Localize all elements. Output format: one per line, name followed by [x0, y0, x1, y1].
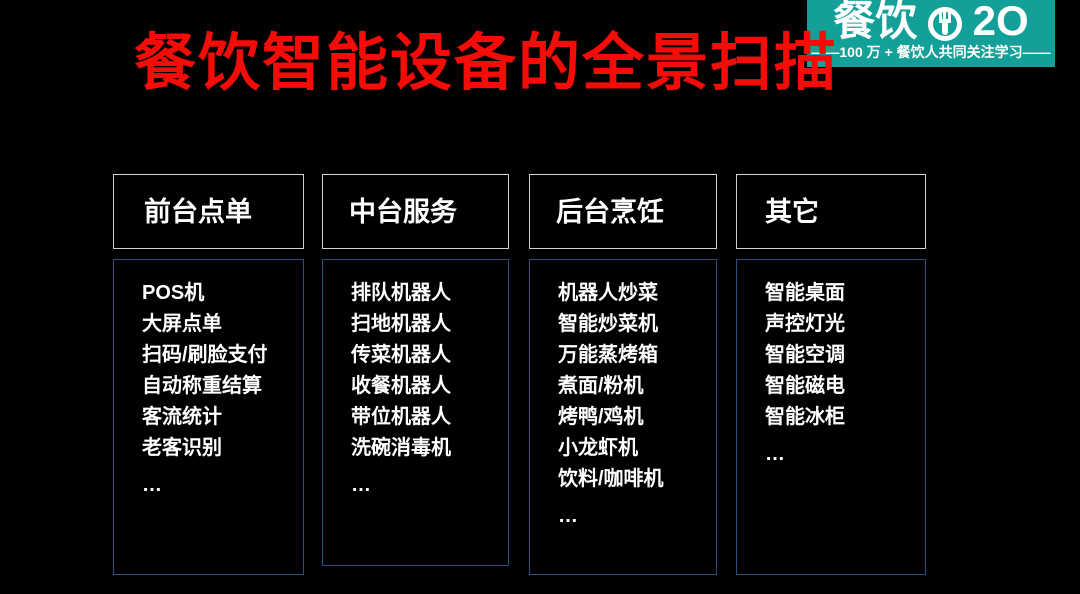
list-item-ellipsis: …	[530, 495, 716, 532]
list-item: 带位机器人	[323, 402, 508, 433]
brand-logo-suffix: 2O	[973, 0, 1029, 44]
category-header-label: 前台点单	[144, 197, 252, 227]
list-item-ellipsis: …	[323, 464, 508, 501]
list-item: 洗碗消毒机	[323, 433, 508, 464]
list-item: 声控灯光	[737, 309, 925, 340]
list-item: 大屏点单	[114, 309, 303, 340]
category-list-mid-service: 排队机器人 扫地机器人 传菜机器人 收餐机器人 带位机器人 洗碗消毒机 …	[322, 259, 509, 566]
list-item: 扫码/刷脸支付	[114, 340, 303, 371]
brand-logo-wordmark: 餐饮 2O	[807, 0, 1055, 43]
list-item: 老客识别	[114, 433, 303, 464]
list-item: 传菜机器人	[323, 340, 508, 371]
category-column-mid-service: 中台服务 排队机器人 扫地机器人 传菜机器人 收餐机器人 带位机器人 洗碗消毒机…	[322, 174, 509, 566]
list-item: POS机	[114, 278, 303, 309]
list-item: 饮料/咖啡机	[530, 464, 716, 495]
list-item: 扫地机器人	[323, 309, 508, 340]
list-item: 烤鸭/鸡机	[530, 402, 716, 433]
category-column-front-desk: 前台点单 POS机 大屏点单 扫码/刷脸支付 自动称重结算 客流统计 老客识别 …	[113, 174, 304, 575]
list-item-ellipsis: …	[737, 433, 925, 470]
category-list-others: 智能桌面 声控灯光 智能空调 智能磁电 智能冰柜 …	[736, 259, 926, 575]
category-list-back-kitchen: 机器人炒菜 智能炒菜机 万能蒸烤箱 煮面/粉机 烤鸭/鸡机 小龙虾机 饮料/咖啡…	[529, 259, 717, 575]
fork-in-circle-icon	[928, 7, 962, 41]
list-item: 收餐机器人	[323, 371, 508, 402]
list-item: 煮面/粉机	[530, 371, 716, 402]
category-header-label: 中台服务	[349, 197, 457, 227]
category-header-mid-service: 中台服务	[322, 174, 509, 249]
list-item: 排队机器人	[323, 278, 508, 309]
list-item: 智能磁电	[737, 371, 925, 402]
list-item: 智能冰柜	[737, 402, 925, 433]
list-item-ellipsis: …	[114, 464, 303, 501]
slide-canvas: 餐饮 2O ——100 万 + 餐饮人共同关注学习—— 餐饮智能设备的全景扫描 …	[0, 0, 1080, 594]
category-column-back-kitchen: 后台烹饪 机器人炒菜 智能炒菜机 万能蒸烤箱 煮面/粉机 烤鸭/鸡机 小龙虾机 …	[529, 174, 717, 575]
brand-logo: 餐饮 2O ——100 万 + 餐饮人共同关注学习——	[807, 0, 1055, 67]
list-item: 万能蒸烤箱	[530, 340, 716, 371]
category-column-others: 其它 智能桌面 声控灯光 智能空调 智能磁电 智能冰柜 …	[736, 174, 926, 575]
page-title: 餐饮智能设备的全景扫描	[134, 27, 838, 101]
list-item: 智能炒菜机	[530, 309, 716, 340]
list-item: 客流统计	[114, 402, 303, 433]
list-item: 自动称重结算	[114, 371, 303, 402]
category-header-others: 其它	[736, 174, 926, 249]
category-header-back-kitchen: 后台烹饪	[529, 174, 717, 249]
category-header-front-desk: 前台点单	[113, 174, 304, 249]
brand-logo-subtitle: ——100 万 + 餐饮人共同关注学习——	[807, 44, 1055, 60]
category-header-label: 其它	[765, 197, 819, 227]
list-item: 小龙虾机	[530, 433, 716, 464]
category-header-label: 后台烹饪	[556, 197, 664, 227]
category-list-front-desk: POS机 大屏点单 扫码/刷脸支付 自动称重结算 客流统计 老客识别 …	[113, 259, 304, 575]
brand-logo-prefix: 餐饮	[833, 0, 917, 44]
list-item: 智能桌面	[737, 278, 925, 309]
list-item: 智能空调	[737, 340, 925, 371]
list-item: 机器人炒菜	[530, 278, 716, 309]
